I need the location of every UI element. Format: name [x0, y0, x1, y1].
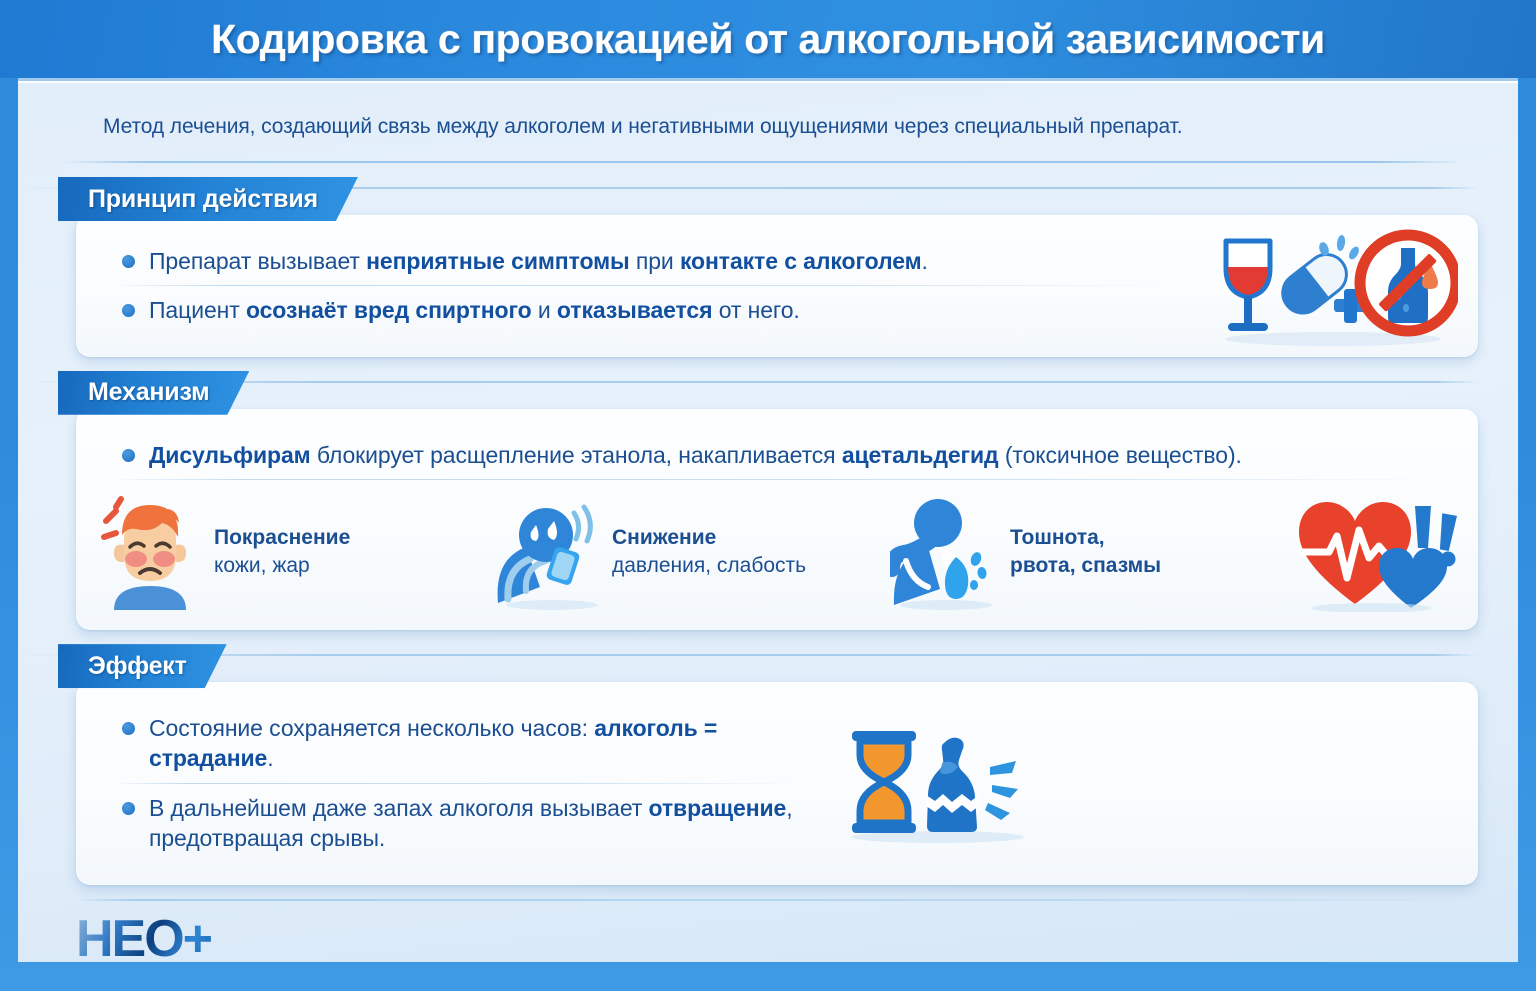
footer-divider [76, 899, 1478, 901]
section-mechanism: Механизм Дисульфирам блокирует расщеплен… [18, 371, 1518, 630]
illustration-wine-pill-noalcohol [1208, 215, 1478, 357]
bullet-text: В дальнейшем даже запах алкоголя вызывае… [149, 793, 793, 854]
symptom-line-2: кожи, жар [214, 552, 350, 580]
intro-block: Метод лечения, создающий связь между алк… [18, 81, 1518, 163]
bullet-text: Пациент осознаёт вред спиртного и отказы… [149, 295, 800, 325]
bullet-dot-icon [122, 255, 135, 268]
symptom-item-nausea: Тошнота, рвота, спазмы [890, 495, 1288, 610]
broken-bottle-icon [926, 738, 980, 832]
impact-lines-icon [985, 761, 1018, 820]
bullet-dot-icon [122, 304, 135, 317]
list-item: Пациент осознаёт вред спиртного и отказы… [122, 286, 1178, 334]
illustration-hourglass-broken-bottle [838, 682, 1478, 884]
symptom-item-hypotension: Снижение давления, слабость [492, 495, 890, 610]
content-panel: Метод лечения, создающий связь между алк… [18, 78, 1518, 962]
bullet-list-effect: Состояние сохраняется несколько часов: а… [76, 682, 838, 884]
page-header: Кодировка с провокацией от алкогольной з… [0, 0, 1536, 78]
dizzy-person-icon [492, 495, 602, 610]
section-principle: Принцип действия Препарат вызывает непри… [18, 177, 1518, 357]
no-alcohol-icon [1360, 235, 1456, 331]
hourglass-broken-bottle-icon [838, 723, 1038, 843]
wine-pill-noalcohol-icon [1208, 223, 1458, 348]
symptom-item-cardiac [1288, 492, 1468, 612]
list-item: Состояние сохраняется несколько часов: а… [122, 704, 808, 783]
bullet-text: Дисульфирам блокирует расщепление этанол… [149, 440, 1242, 470]
wine-glass-icon [1226, 241, 1270, 331]
vomiting-person-icon [890, 495, 1000, 610]
section-card-effect: Состояние сохраняется несколько часов: а… [76, 682, 1478, 884]
symptom-label: Тошнота, рвота, спазмы [1010, 524, 1161, 579]
section-effect: Эффект Состояние сохраняется несколько ч… [18, 644, 1518, 884]
intro-text: Метод лечения, создающий связь между алк… [103, 115, 1458, 139]
bullet-text: Препарат вызывает неприятные симптомы пр… [149, 246, 928, 276]
intro-divider [63, 161, 1463, 163]
heat-lines-icon [104, 499, 121, 537]
symptom-line-2: рвота, спазмы [1010, 552, 1161, 580]
list-item: Препарат вызывает неприятные симптомы пр… [122, 237, 1178, 285]
symptom-list: Покраснение кожи, жар [76, 488, 1478, 630]
symptom-line-2: давления, слабость [612, 552, 806, 580]
bullet-dot-icon [122, 449, 135, 462]
heartbeat-alert-icon [1293, 492, 1458, 612]
bullet-dot-icon [122, 802, 135, 815]
list-item: Дисульфирам блокирует расщепление этанол… [122, 431, 1448, 479]
bullet-list-mechanism: Дисульфирам блокирует расщепление этанол… [76, 409, 1478, 488]
section-tab-mechanism[interactable]: Механизм [58, 371, 249, 415]
brand-logo: НЕО+ [76, 913, 211, 965]
section-tab-effect[interactable]: Эффект [58, 644, 227, 688]
list-item: В дальнейшем даже запах алкоголя вызывае… [122, 784, 808, 863]
page-footer: НЕО+ [18, 885, 1518, 965]
bullet-divider [122, 479, 1438, 480]
symptom-item-flushing: Покраснение кожи, жар [94, 495, 492, 610]
symptom-line-1: Покраснение [214, 524, 350, 552]
flushed-face-icon [94, 495, 204, 610]
bullet-dot-icon [122, 722, 135, 735]
hourglass-icon [852, 731, 916, 833]
symptom-line-1: Тошнота, [1010, 524, 1161, 552]
bullet-text: Состояние сохраняется несколько часов: а… [149, 713, 808, 774]
symptom-label: Покраснение кожи, жар [214, 524, 350, 579]
section-card-principle: Препарат вызывает неприятные симптомы пр… [76, 215, 1478, 357]
symptom-label: Снижение давления, слабость [612, 524, 806, 579]
tab-divider [18, 654, 1478, 656]
section-tab-principle[interactable]: Принцип действия [58, 177, 358, 221]
section-card-mechanism: Дисульфирам блокирует расщепление этанол… [76, 409, 1478, 630]
symptom-line-1: Снижение [612, 524, 806, 552]
page-title: Кодировка с провокацией от алкогольной з… [211, 16, 1325, 63]
bullet-list-principle: Препарат вызывает неприятные симптомы пр… [76, 215, 1208, 357]
